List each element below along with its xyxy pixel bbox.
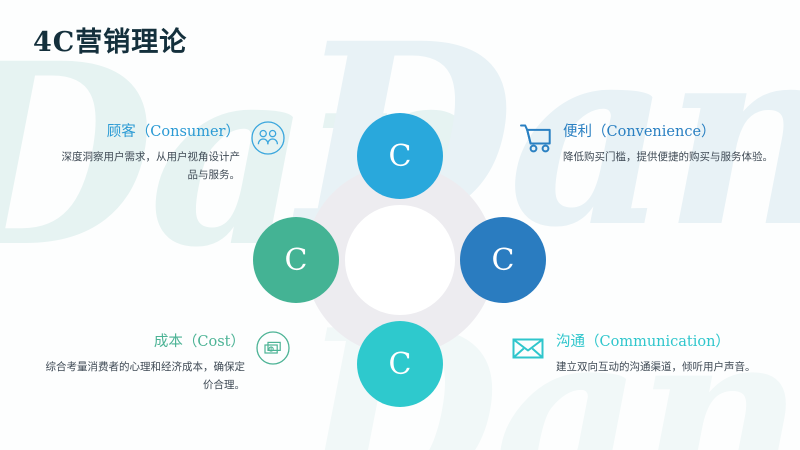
block-consumer-text: 顾客（Consumer） 深度洞察用户需求，从用户视角设计产品与服务。 — [55, 120, 240, 185]
users-circle-icon — [250, 120, 286, 156]
page-title: 4C营销理论 — [33, 20, 187, 59]
circle-letter: C — [389, 139, 412, 174]
block-convenience-body: 降低购买门槛，提供便捷的购买与服务体验。 — [563, 148, 773, 166]
envelope-icon — [510, 330, 546, 366]
block-convenience-text: 便利（Convenience） 降低购买门槛，提供便捷的购买与服务体验。 — [563, 120, 773, 166]
block-cost: 成本（Cost） 综合考量消费者的心理和经济成本，确保定价合理。 — [40, 330, 291, 395]
circle-letter: C — [285, 243, 308, 278]
circle-right-communication[interactable]: C — [460, 217, 546, 303]
block-consumer-body: 深度洞察用户需求，从用户视角设计产品与服务。 — [55, 148, 240, 185]
slide-canvas: Dan Dan Dan 4C营销理论 C C C C 顾客（Consumer） … — [0, 0, 800, 450]
circle-bottom-cost[interactable]: C — [357, 321, 443, 407]
block-consumer: 顾客（Consumer） 深度洞察用户需求，从用户视角设计产品与服务。 — [55, 120, 286, 185]
circle-letter: C — [389, 347, 412, 382]
block-convenience: 便利（Convenience） 降低购买门槛，提供便捷的购买与服务体验。 — [517, 120, 773, 166]
block-cost-text: 成本（Cost） 综合考量消费者的心理和经济成本，确保定价合理。 — [40, 330, 245, 395]
block-communication-text: 沟通（Communication） 建立双向互动的沟通渠道，倾听用户声音。 — [556, 330, 756, 376]
money-circle-icon — [255, 330, 291, 366]
shopping-cart-icon — [517, 120, 553, 156]
block-communication-heading: 沟通（Communication） — [556, 330, 756, 351]
diagram-ring-hole — [345, 205, 455, 315]
circle-top-convenience[interactable]: C — [357, 113, 443, 199]
block-consumer-heading: 顾客（Consumer） — [55, 120, 240, 141]
four-c-diagram: C C C C — [305, 165, 495, 355]
block-cost-heading: 成本（Cost） — [40, 330, 245, 351]
circle-left-consumer[interactable]: C — [253, 217, 339, 303]
block-cost-body: 综合考量消费者的心理和经济成本，确保定价合理。 — [40, 358, 245, 395]
block-communication: 沟通（Communication） 建立双向互动的沟通渠道，倾听用户声音。 — [510, 330, 756, 376]
block-convenience-heading: 便利（Convenience） — [563, 120, 773, 141]
circle-letter: C — [492, 243, 515, 278]
block-communication-body: 建立双向互动的沟通渠道，倾听用户声音。 — [556, 358, 756, 376]
